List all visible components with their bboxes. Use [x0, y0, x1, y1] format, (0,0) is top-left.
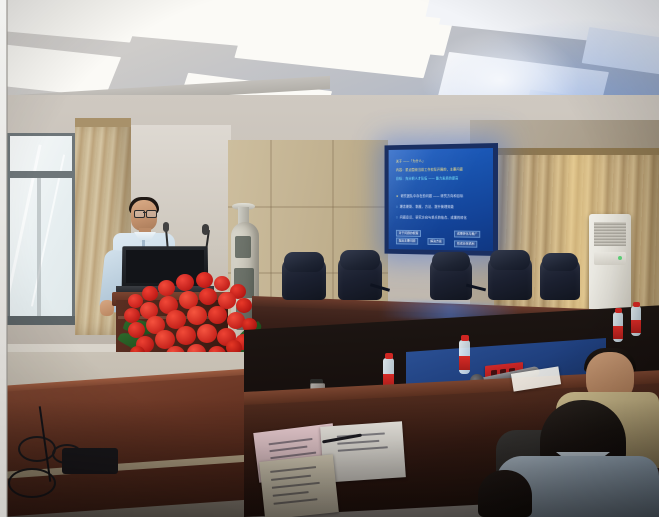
chair-headrest [490, 250, 530, 270]
notebook-page [259, 454, 339, 517]
window-frame [7, 133, 75, 323]
slide-line: 理念更新、制度、方法、提升管理效能 [396, 206, 454, 209]
slide-heading: 关于 ——「为什么」 [396, 160, 425, 164]
slide-line: 研究团队中存在的问题 —— 研究方向和目标 [396, 195, 463, 198]
flower-bloom [187, 306, 207, 325]
flower-bloom [214, 276, 230, 291]
handwriting-line [273, 491, 309, 496]
window-sill [7, 316, 75, 325]
water-bottle-cap [615, 308, 622, 313]
water-bottle-label [631, 320, 641, 333]
slide-chip: 对于问题的梳理 [396, 230, 421, 237]
chair-headrest [542, 253, 578, 271]
handwriting-line [337, 440, 379, 445]
flower-bloom [176, 274, 194, 291]
flower-bloom [208, 306, 227, 324]
handwriting-line [272, 482, 320, 489]
image-left-border-line [6, 0, 8, 517]
flower-bloom [176, 326, 196, 345]
vase-painting [235, 236, 251, 258]
air-conditioner-grille-icon [594, 222, 626, 246]
flower-bloom [124, 308, 140, 323]
handwriting-line [270, 466, 316, 472]
chair-headrest [432, 252, 470, 271]
window [7, 133, 75, 323]
chair-headrest [284, 252, 324, 272]
microphone-icon [163, 222, 169, 232]
water-bottle-cap [633, 302, 640, 307]
audience-head [478, 470, 532, 517]
slide-line: 目标：充分把人才队伍 —— 能力素质的提高 [396, 177, 458, 181]
water-bottle-cap [385, 353, 393, 359]
flower-bloom [199, 288, 217, 305]
slide-chip: 解决方案 [427, 238, 444, 245]
handwriting-line [338, 446, 388, 451]
projection-screen[interactable]: 关于 ——「为什么」 内容：重点围绕当前工作实际开展的，主要问题 目标：充分把人… [389, 148, 493, 251]
floor-equipment-box [62, 448, 118, 474]
microphone-icon [202, 224, 209, 235]
flower-bloom [142, 286, 158, 301]
curtain-rod-right [494, 148, 659, 155]
handwriting-line [269, 446, 307, 452]
flower-bloom [196, 272, 213, 288]
air-conditioner-led-icon [618, 256, 622, 260]
eyeglasses-bridge [143, 212, 146, 213]
handwriting-line [274, 498, 318, 504]
eyeglasses-icon [146, 210, 157, 218]
slide-line: 问题意识、研究方向与重点的结合、成果的转化 [396, 216, 467, 220]
slide-chip: 提出主要问题 [396, 238, 418, 245]
water-bottle-label [459, 356, 470, 370]
water-bottle-cap [461, 335, 469, 341]
water-bottle-label [613, 326, 623, 339]
flower-bloom [197, 324, 217, 343]
flower-bloom [236, 298, 252, 313]
floor-cable [18, 436, 56, 462]
chair-headrest [340, 250, 380, 270]
conference-room-photo: 关于 ——「为什么」 内容：重点围绕当前工作实际开展的，主要问题 目标：充分把人… [0, 0, 659, 517]
handwriting-line [271, 475, 311, 481]
curtain-rod-left [75, 118, 131, 127]
handwriting-line [269, 438, 313, 445]
slide-chip: 形成长效机制 [454, 240, 477, 247]
flower-bloom [158, 280, 175, 296]
slide-chip: 成果转化与推广 [454, 231, 480, 238]
slide-content: 关于 ——「为什么」 内容：重点围绕当前工作实际开展的，主要问题 目标：充分把人… [392, 153, 489, 247]
slide-line: 内容：重点围绕当前工作实际开展的，主要问题 [396, 168, 463, 172]
